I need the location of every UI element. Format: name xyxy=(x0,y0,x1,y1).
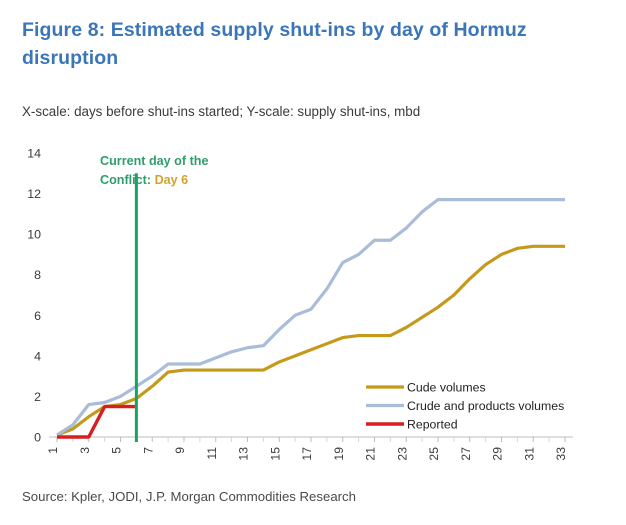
y-axis-ticks: 02468101214 xyxy=(27,147,41,445)
x-tick-label: 21 xyxy=(364,447,378,461)
y-tick-label: 12 xyxy=(27,187,41,201)
annotation-day-value: Day 6 xyxy=(155,173,189,187)
x-tick-label: 13 xyxy=(237,447,251,461)
x-tick-label: 25 xyxy=(427,447,441,461)
figure-title: Figure 8: Estimated supply shut-ins by d… xyxy=(22,16,542,73)
x-tick-label: 33 xyxy=(554,447,568,461)
x-tick-label: 31 xyxy=(522,447,536,461)
y-tick-label: 4 xyxy=(34,349,41,363)
x-tick-label: 15 xyxy=(268,447,282,461)
y-tick-label: 14 xyxy=(27,147,41,161)
figure-subtitle: X-scale: days before shut-ins started; Y… xyxy=(22,103,602,120)
x-tick-label: 1 xyxy=(46,447,60,454)
x-tick-label: 29 xyxy=(491,447,505,461)
annotation-line-1: Current day of the xyxy=(100,154,208,168)
y-tick-label: 2 xyxy=(34,390,41,404)
chart-legend: Cude volumesCrude and products volumesRe… xyxy=(366,380,564,431)
x-tick-label: 3 xyxy=(78,447,92,454)
x-tick-label: 23 xyxy=(395,447,409,461)
legend-label: Reported xyxy=(407,417,458,431)
x-tick-label: 17 xyxy=(300,447,314,461)
x-tick-label: 9 xyxy=(173,447,187,454)
legend-label: Crude and products volumes xyxy=(407,399,564,413)
x-tick-label: 19 xyxy=(332,447,346,461)
y-tick-label: 6 xyxy=(34,309,41,323)
x-tick-label: 27 xyxy=(459,447,473,461)
y-tick-label: 8 xyxy=(34,268,41,282)
current-day-annotation: Current day of theConflict: Day 6 xyxy=(100,154,208,187)
x-tick-label: 11 xyxy=(205,447,219,460)
annotation-line-2: Conflict: Day 6 xyxy=(100,173,188,187)
y-tick-label: 10 xyxy=(27,228,41,242)
x-tick-label: 7 xyxy=(141,447,155,454)
line-chart: 0246810121413579111315171921232527293133… xyxy=(0,135,626,480)
x-axis: 13579111315171921232527293133 xyxy=(46,437,573,461)
x-tick-label: 5 xyxy=(110,447,124,454)
figure-container: Figure 8: Estimated supply shut-ins by d… xyxy=(0,0,626,525)
y-tick-label: 0 xyxy=(34,431,41,445)
legend-label: Cude volumes xyxy=(407,380,486,394)
chart-plot-area: 0246810121413579111315171921232527293133… xyxy=(0,135,626,480)
figure-source: Source: Kpler, JODI, J.P. Morgan Commodi… xyxy=(22,489,602,504)
